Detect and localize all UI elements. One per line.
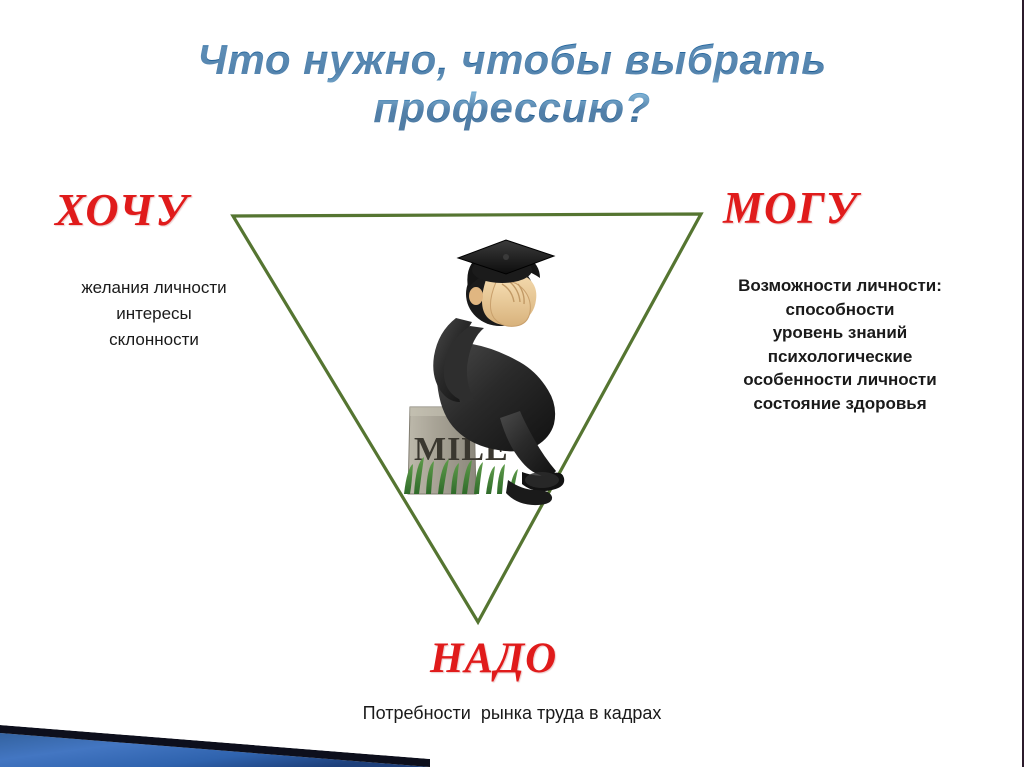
corner-description-must: Потребности рынка труда в кадрах <box>262 702 762 724</box>
corner-label-want: ХОЧУ <box>55 183 189 236</box>
corner-label-must: НАДО <box>430 634 557 683</box>
corner-description-can: Возможности личности: способности уровен… <box>690 274 990 415</box>
corner-label-can: МОГУ <box>723 182 858 234</box>
corner-description-want: желания личности интересы склонности <box>28 275 280 353</box>
page-title: Что нужно, чтобы выбрать профессию? <box>0 36 1024 132</box>
slide-canvas: Что нужно, чтобы выбрать профессию? <box>0 0 1024 767</box>
graduate-on-milestone-illustration: MILE <box>396 222 616 522</box>
